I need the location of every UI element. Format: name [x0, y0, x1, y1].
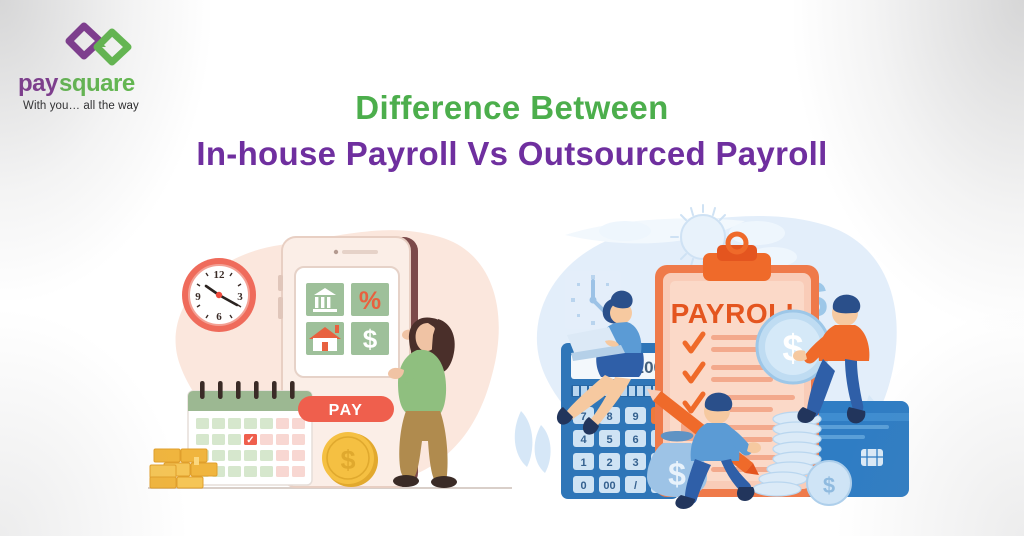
- app-tile-dollar: $: [351, 322, 389, 355]
- svg-text:$: $: [782, 328, 803, 370]
- svg-text:6: 6: [632, 434, 638, 446]
- poster-canvas: % $ 12 3 6: [0, 0, 1024, 536]
- svg-text:$: $: [823, 473, 835, 498]
- app-tile-percent: %: [351, 283, 389, 316]
- svg-text:5: 5: [606, 434, 612, 446]
- illustration-outsourced-payroll: $ $: [505, 195, 925, 515]
- svg-text:9: 9: [632, 411, 638, 423]
- page-title: Difference Between In-house Payroll Vs O…: [0, 88, 1024, 176]
- svg-text:12: 12: [214, 269, 226, 281]
- svg-text:$: $: [668, 456, 686, 492]
- wall-clock: 12 3 6 9: [182, 258, 256, 332]
- svg-text:2: 2: [606, 457, 612, 469]
- pay-button: PAY: [298, 396, 394, 422]
- title-line-1: Difference Between: [0, 88, 1024, 128]
- svg-text:✓: ✓: [246, 435, 254, 446]
- dollar-coin: $: [807, 461, 851, 505]
- svg-text:/: /: [634, 480, 637, 492]
- svg-text:1: 1: [580, 457, 586, 469]
- svg-text:9: 9: [195, 291, 201, 303]
- svg-text:%: %: [359, 287, 381, 315]
- title-line-2: In-house Payroll Vs Outsourced Payroll: [0, 132, 1024, 176]
- svg-text:00: 00: [603, 480, 615, 492]
- svg-text:3: 3: [237, 291, 243, 303]
- svg-text:PAY: PAY: [329, 402, 364, 419]
- app-tile-house: [306, 322, 344, 355]
- svg-text:$: $: [340, 445, 355, 475]
- svg-text:$: $: [363, 324, 378, 354]
- svg-text:0: 0: [580, 480, 586, 492]
- illustration-in-house-payroll: % $ 12 3 6: [140, 215, 520, 515]
- app-tile-bank: [306, 283, 344, 316]
- svg-text:6: 6: [216, 311, 222, 323]
- svg-text:4: 4: [580, 434, 587, 446]
- svg-text:3: 3: [632, 457, 638, 469]
- paysquare-logo-mark: [64, 22, 138, 68]
